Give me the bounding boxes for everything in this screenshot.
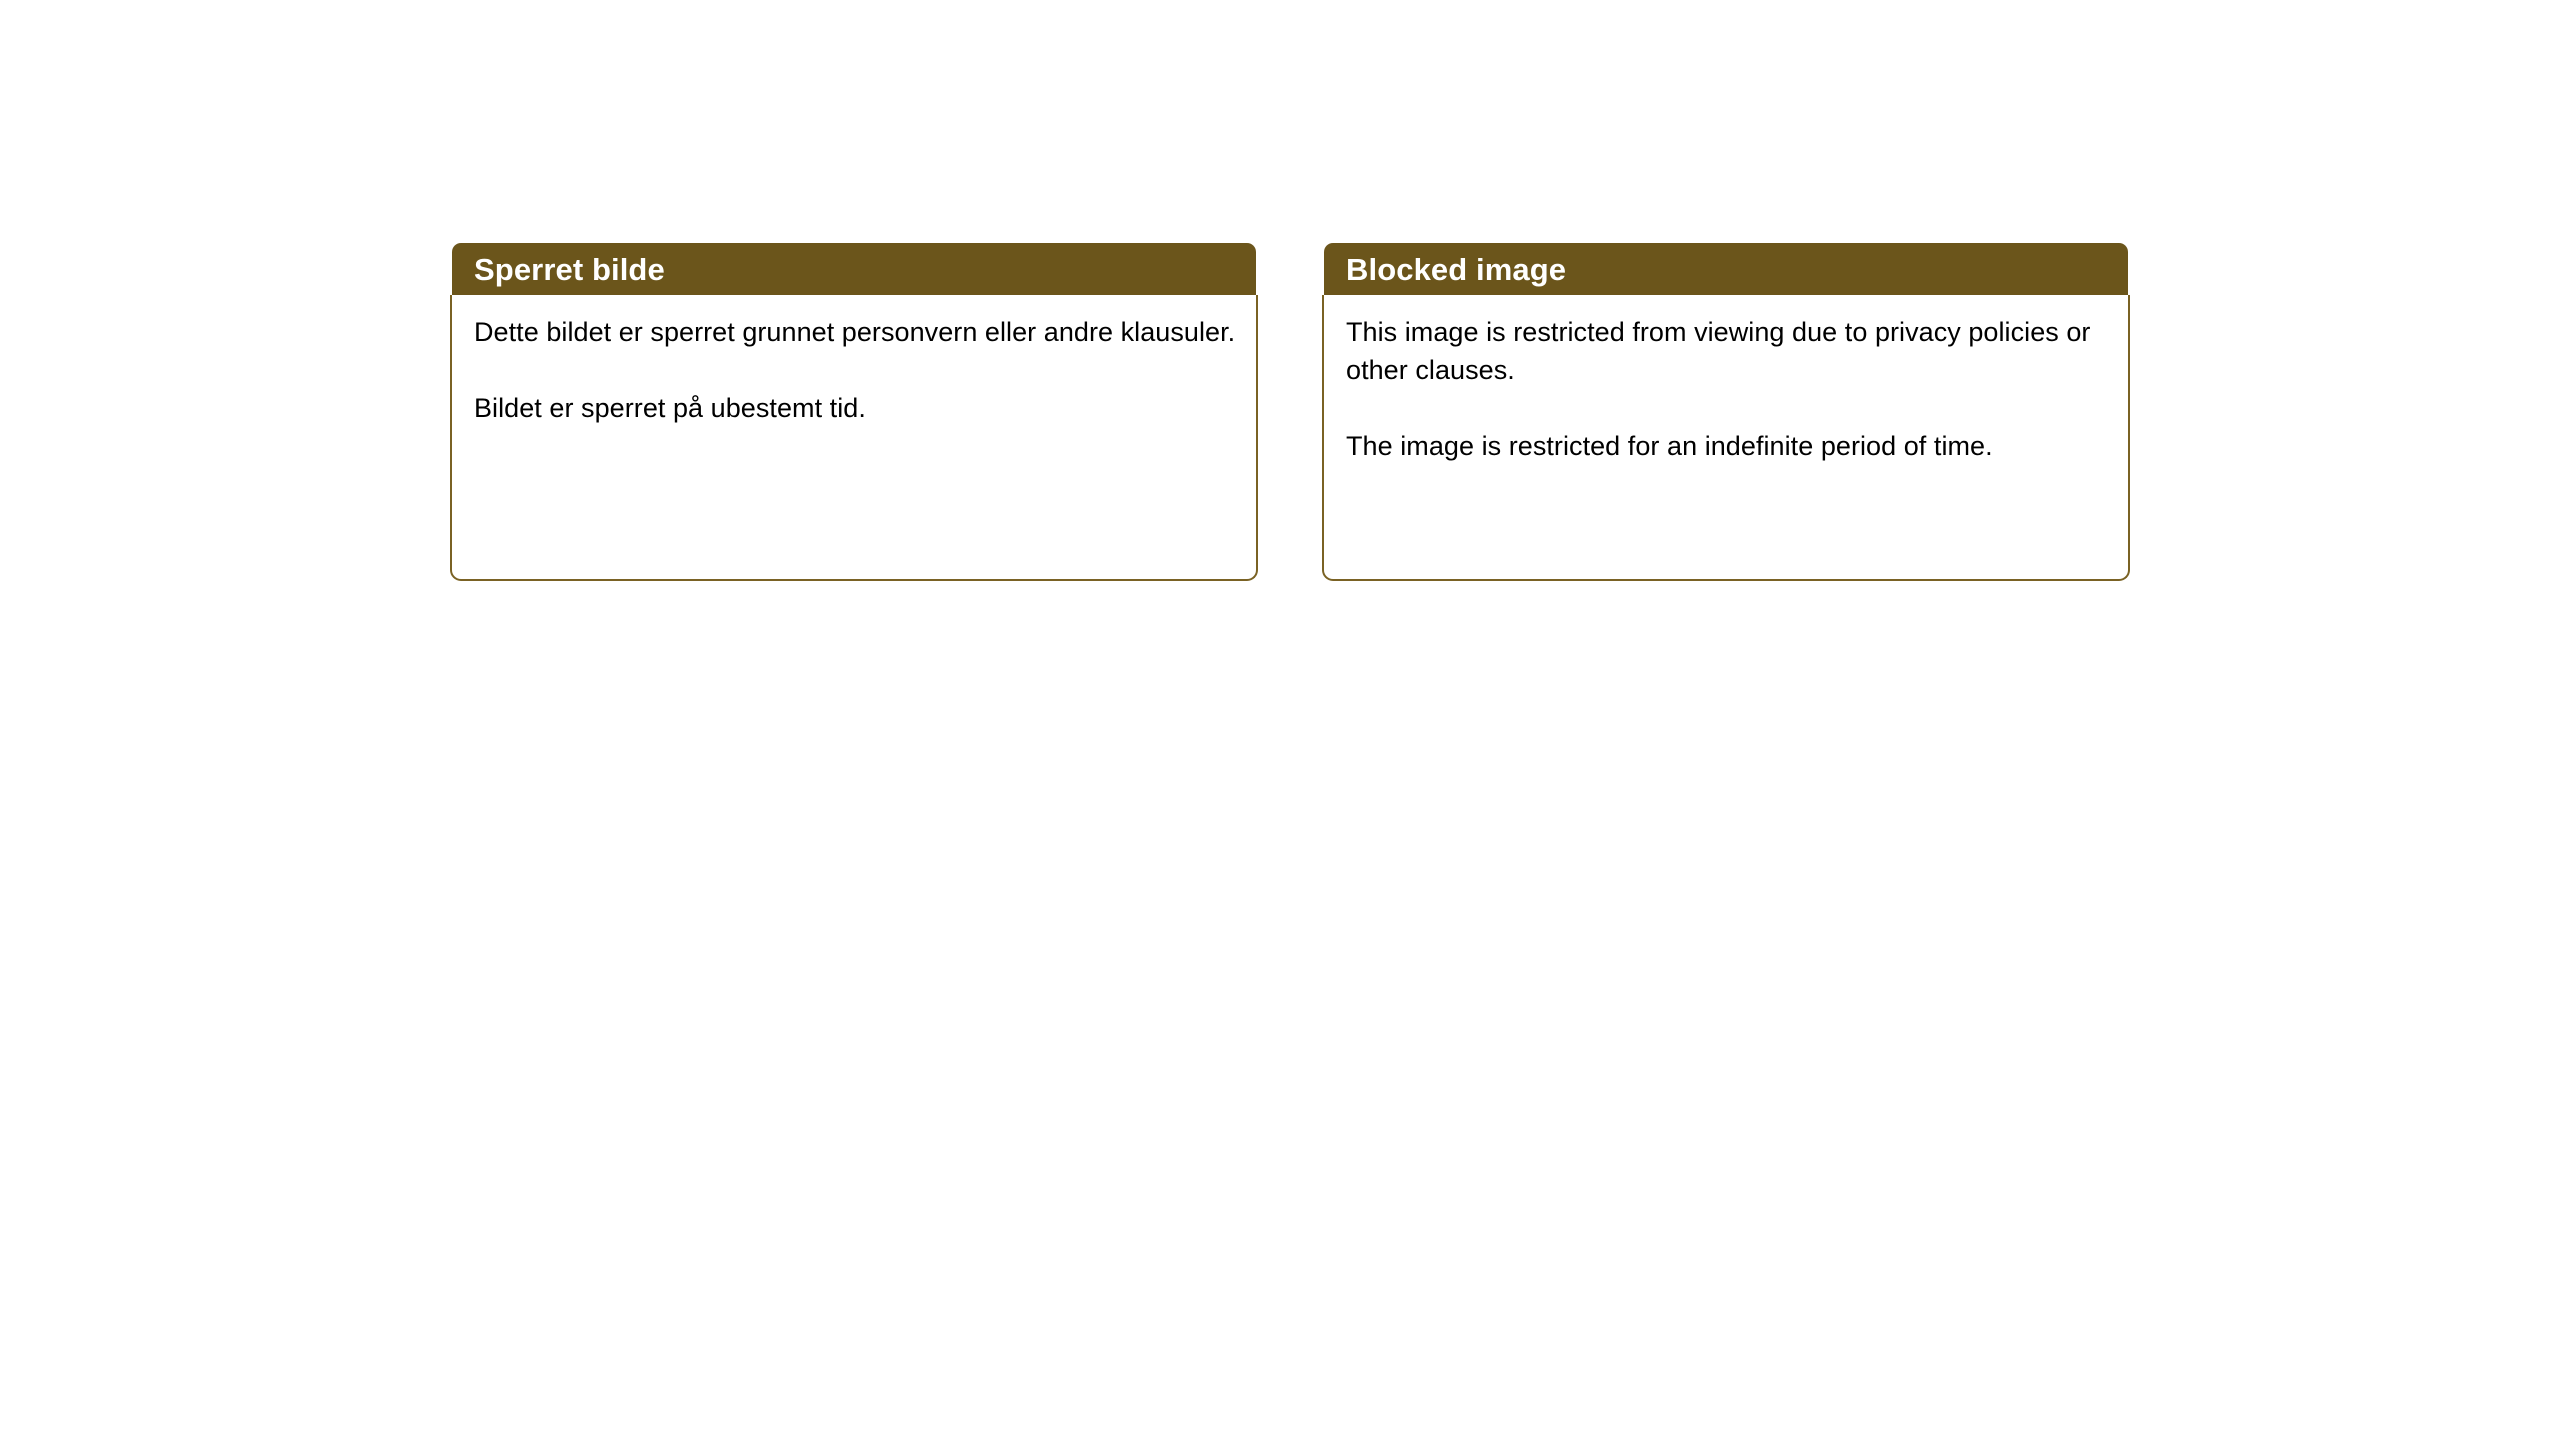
- panel-body-en: This image is restricted from viewing du…: [1322, 295, 2130, 581]
- panel-header-en: Blocked image: [1324, 243, 2128, 297]
- blocked-image-panel-en: Blocked image This image is restricted f…: [1322, 243, 2130, 581]
- panel-paragraph-no-1: Dette bildet er sperret grunnet personve…: [474, 313, 1236, 351]
- panel-paragraph-no-2: Bildet er sperret på ubestemt tid.: [474, 389, 1236, 427]
- panel-paragraph-en-2: The image is restricted for an indefinit…: [1346, 427, 2108, 465]
- panel-paragraph-en-1: This image is restricted from viewing du…: [1346, 313, 2108, 389]
- panel-title-no: Sperret bilde: [474, 253, 665, 287]
- blocked-image-panel-no: Sperret bilde Dette bildet er sperret gr…: [450, 243, 1258, 581]
- panel-body-no: Dette bildet er sperret grunnet personve…: [450, 295, 1258, 581]
- panel-header-no: Sperret bilde: [452, 243, 1256, 297]
- panel-title-en: Blocked image: [1346, 253, 1566, 287]
